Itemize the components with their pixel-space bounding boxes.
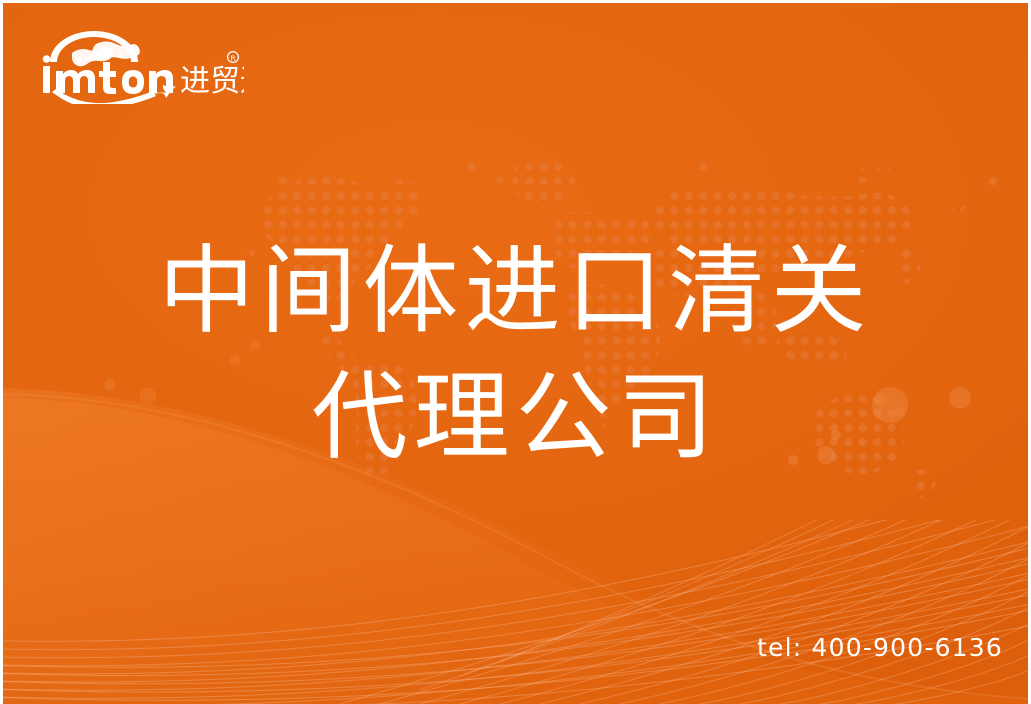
headline-line-2: 代理公司 <box>0 354 1031 480</box>
imton-logo[interactable]: 进贸通 R <box>34 26 244 104</box>
svg-text:R: R <box>231 54 236 62</box>
globe-arc-icon <box>50 31 140 66</box>
logo-chinese-name: 进贸通 <box>180 64 244 99</box>
swoosh-arrow-icon <box>52 85 176 104</box>
contact-phone-number: tel: 400-900-6136 <box>757 633 1003 663</box>
logo-wordmark <box>43 55 173 94</box>
headline-line-1: 中间体进口清关 <box>0 228 1031 354</box>
headline-block: 中间体进口清关 代理公司 <box>0 228 1031 480</box>
promo-banner: 进贸通 R 中间体进口清关 代理公司 tel: 400-900-6136 <box>0 0 1031 704</box>
